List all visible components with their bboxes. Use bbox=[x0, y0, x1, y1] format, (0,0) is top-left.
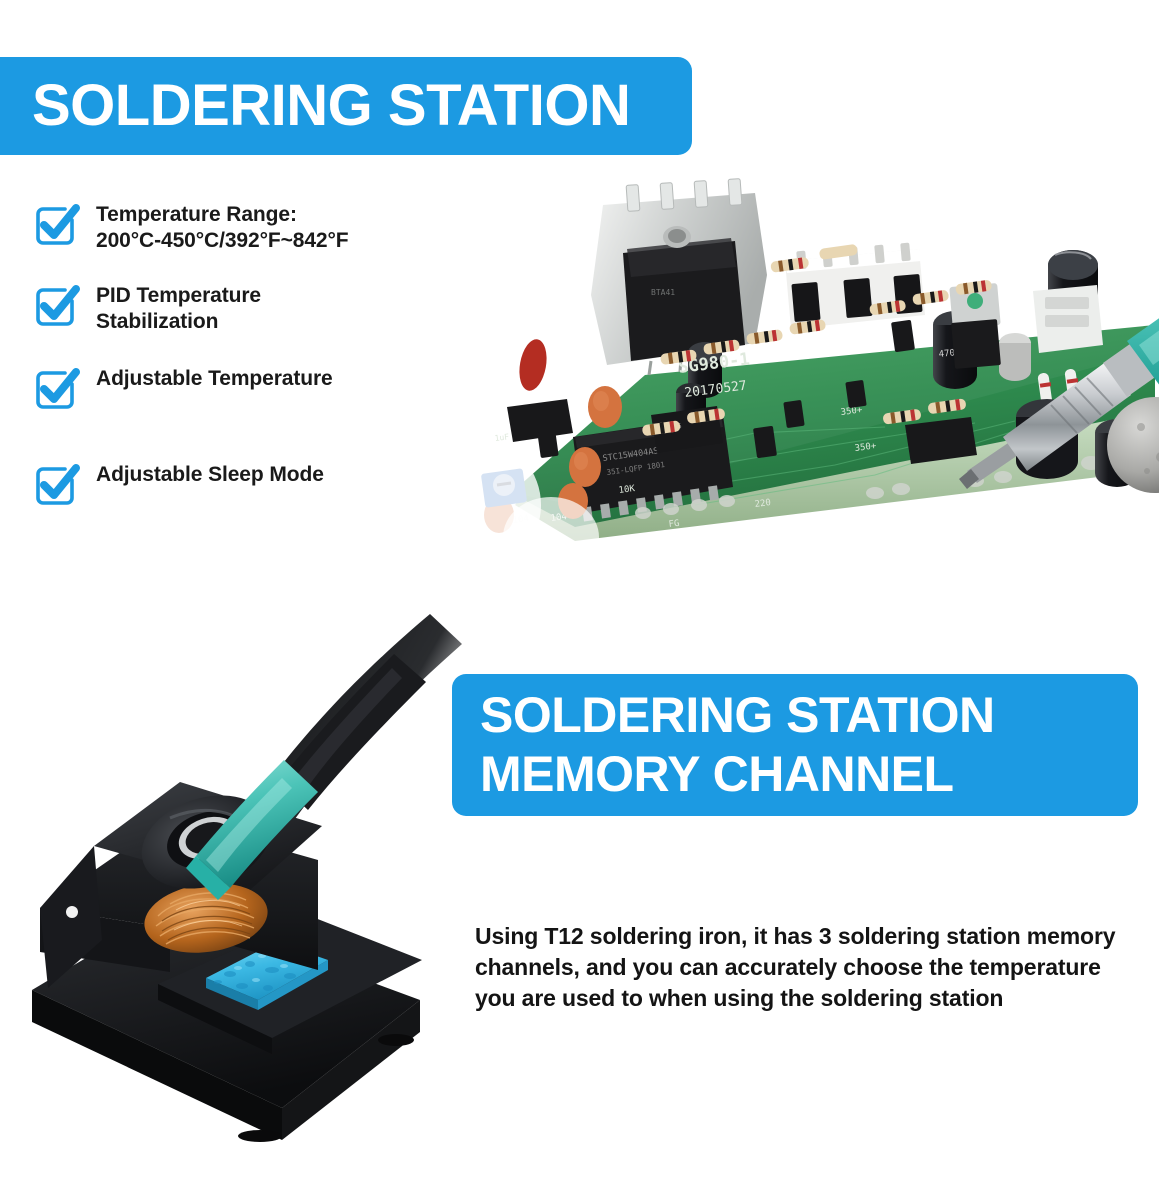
feature-list: Temperature Range: 200°C-450°C/392°F~842… bbox=[32, 198, 452, 510]
memory-channel-title-line1: SOLDERING STATION bbox=[480, 686, 1138, 745]
checkbox-checked-icon bbox=[32, 460, 82, 510]
pcb-product-photo: BTA41 bbox=[455, 175, 1159, 570]
main-title-banner: SOLDERING STATION bbox=[0, 57, 692, 155]
checkbox-checked-icon bbox=[32, 364, 82, 414]
feature-item-temperature-range: Temperature Range: 200°C-450°C/392°F~842… bbox=[32, 198, 452, 255]
feature-item-adjustable-temperature: Adjustable Temperature bbox=[32, 362, 452, 414]
svg-text:10K: 10K bbox=[618, 484, 636, 496]
svg-text:FG: FG bbox=[668, 519, 680, 530]
memory-channel-description: Using T12 soldering iron, it has 3 solde… bbox=[475, 921, 1125, 1013]
feature-label: Adjustable Temperature bbox=[96, 362, 333, 392]
feature-item-pid-stabilization: PID Temperature Stabilization bbox=[32, 279, 452, 336]
soldering-stand-photo bbox=[10, 560, 490, 1160]
feature-item-adjustable-sleep-mode: Adjustable Sleep Mode bbox=[32, 458, 452, 510]
svg-text:1uF: 1uF bbox=[494, 432, 510, 443]
feature-label: Temperature Range: 200°C-450°C/392°F~842… bbox=[96, 198, 349, 255]
feature-label: Adjustable Sleep Mode bbox=[96, 458, 324, 488]
memory-channel-title-line2: MEMORY CHANNEL bbox=[480, 745, 1138, 804]
svg-text:220: 220 bbox=[754, 498, 771, 510]
svg-text:BTA41: BTA41 bbox=[651, 288, 675, 297]
feature-label: PID Temperature Stabilization bbox=[96, 279, 261, 336]
page-title: SOLDERING STATION bbox=[32, 76, 692, 136]
checkbox-checked-icon bbox=[32, 200, 82, 250]
checkbox-checked-icon bbox=[32, 281, 82, 331]
memory-channel-banner: SOLDERING STATION MEMORY CHANNEL bbox=[452, 674, 1138, 816]
infographic-canvas: BTA41 bbox=[0, 0, 1159, 1200]
